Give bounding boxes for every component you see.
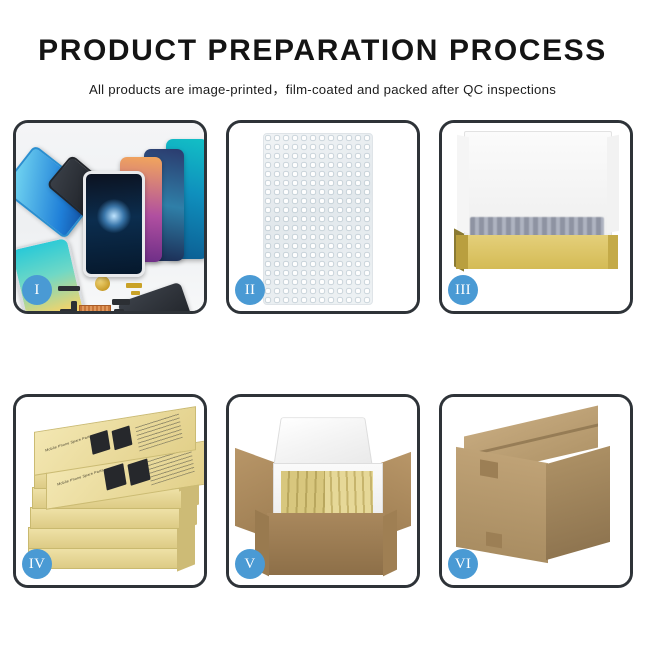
carton-tape-lower-icon [486, 532, 502, 549]
box-stack-icon: Mobile Phone Spare Parts Mobile Phone Sp… [24, 419, 196, 567]
bubble-wrap-bag-icon [263, 133, 373, 305]
step-3-image: III [442, 123, 630, 311]
yellow-box-base-icon [458, 235, 616, 269]
step-6-image: VI [442, 397, 630, 585]
connector-part-icon [60, 309, 74, 311]
page-header: PRODUCT PREPARATION PROCESS All products… [0, 0, 645, 98]
page-subtitle: All products are image-printed，film-coat… [0, 79, 645, 98]
box-label-back: Mobile Phone Spare Parts [45, 434, 92, 452]
gold-pin-icon [131, 291, 140, 295]
step-5-image: V [229, 397, 417, 585]
box-screen-image-c [90, 430, 111, 455]
process-step-4[interactable]: Mobile Phone Spare Parts Mobile Phone Sp… [13, 394, 207, 588]
copper-shield-icon [79, 305, 111, 311]
box-screen-image-a [103, 463, 126, 490]
step-badge-5: V [235, 549, 265, 579]
speaker-part-icon [114, 309, 124, 311]
sealed-carton-side-icon [546, 446, 610, 560]
process-step-3[interactable]: III [439, 120, 633, 314]
step-badge-4: IV [22, 549, 52, 579]
packed-yellow-boxes-right-icon [325, 471, 373, 513]
stacked-box-3 [30, 507, 182, 529]
gold-contact-icon [126, 283, 142, 288]
step-badge-3: III [448, 275, 478, 305]
process-step-grid: I II III [13, 120, 632, 592]
box-screen-image-d [112, 425, 133, 450]
process-step-6[interactable]: VI [439, 394, 633, 588]
sealed-carton-front-icon [456, 447, 548, 563]
phone-screen-front-icon [83, 171, 145, 277]
process-step-1[interactable]: I [13, 120, 207, 314]
carton-tape-upper-icon [480, 459, 498, 478]
step-badge-6: VI [448, 549, 478, 579]
step-4-image: Mobile Phone Spare Parts Mobile Phone Sp… [16, 397, 204, 585]
step-badge-1: I [22, 275, 52, 305]
small-flex-icon [112, 299, 130, 305]
page-title: PRODUCT PREPARATION PROCESS [0, 36, 645, 66]
process-step-5[interactable]: V [226, 394, 420, 588]
camera-lens-icon [95, 276, 110, 291]
stacked-box-4 [28, 527, 180, 549]
process-step-2[interactable]: II [226, 120, 420, 314]
battery-part-icon [58, 286, 80, 291]
step-1-image: I [16, 123, 204, 311]
carton-body-icon [267, 513, 385, 575]
box-spec-lines-back [135, 413, 183, 452]
step-badge-2: II [235, 275, 265, 305]
step-2-image: II [229, 123, 417, 311]
